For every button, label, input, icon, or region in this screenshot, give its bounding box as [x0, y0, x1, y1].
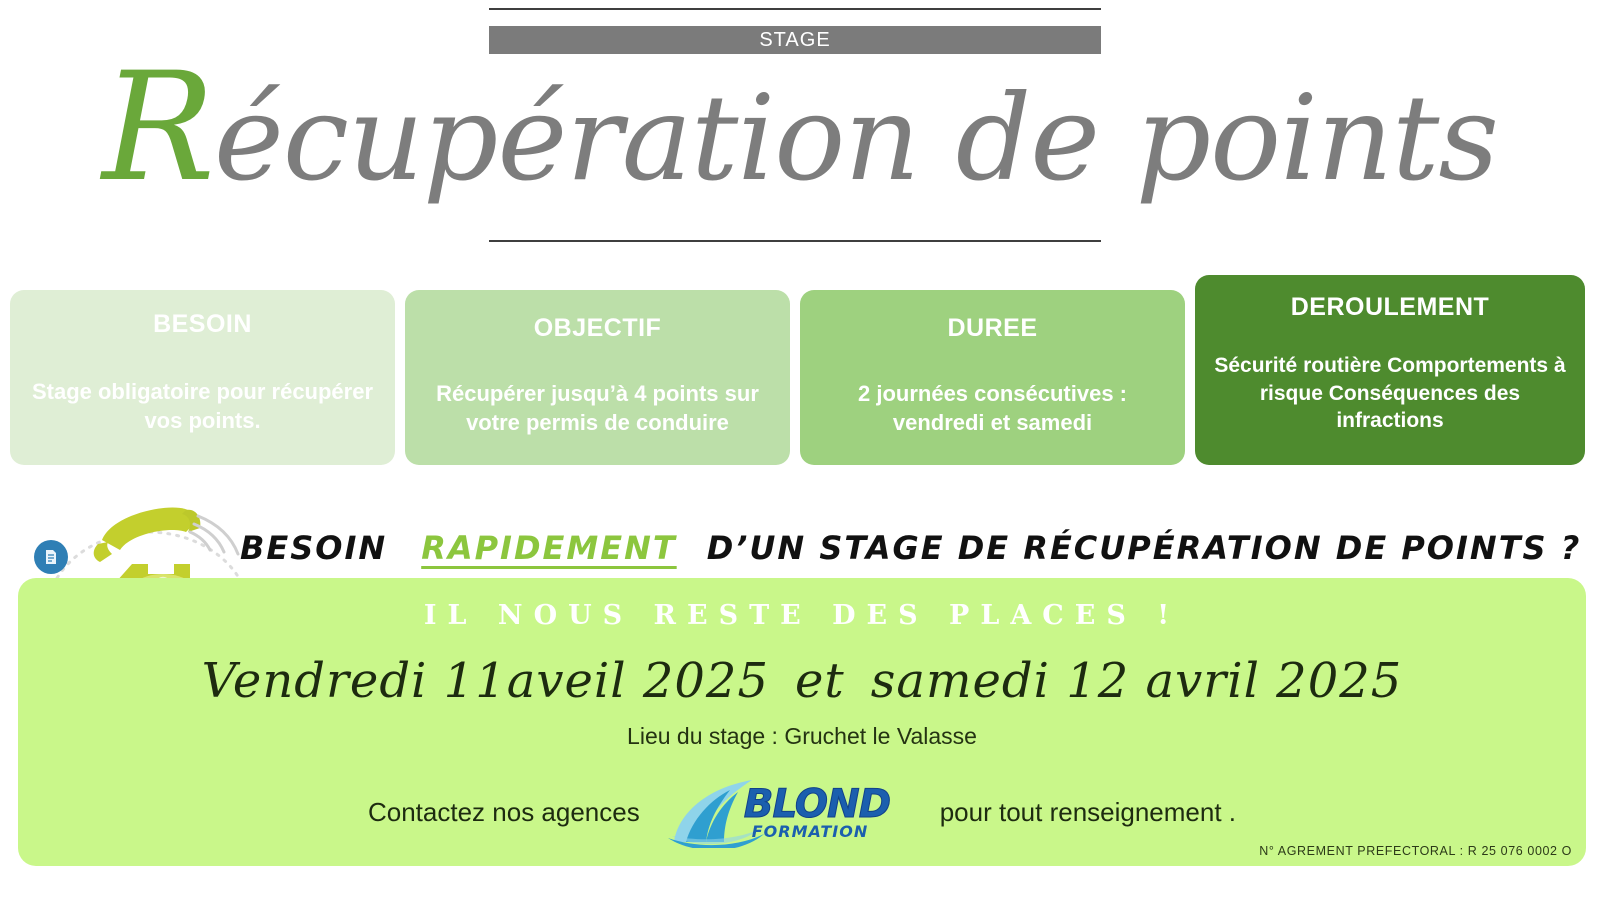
availability-panel: IL NOUS RESTE DES PLACES ! Vendredi 11av…	[18, 578, 1586, 866]
card-objectif-body: Récupérer jusqu’à 4 points sur votre per…	[419, 379, 776, 437]
session-location: Lieu du stage : Gruchet le Valasse	[18, 723, 1586, 750]
contact-suffix-text: pour tout renseignement .	[940, 797, 1236, 828]
stage-label: STAGE	[759, 29, 830, 52]
stage-header: STAGE	[0, 0, 1600, 64]
contact-row: Contactez nos agences BLOND FORMATION po…	[18, 776, 1586, 848]
info-cards-row: BESOIN Stage obligatoire pour récupérer …	[0, 275, 1600, 475]
question-headline: BESOIN RAPIDEMENT D’UN STAGE DE RÉCUPÉRA…	[240, 518, 1400, 578]
header-rule-top	[489, 8, 1101, 10]
stage-banner: STAGE	[489, 26, 1101, 54]
page-title: Récupération de points	[0, 58, 1600, 218]
session-date-1: Vendredi 11aveil 2025	[202, 653, 769, 709]
blond-formation-logo: BLOND FORMATION	[666, 776, 914, 848]
blond-logo-subtitle: FORMATION	[752, 822, 868, 841]
contact-prefix-text: Contactez nos agences	[368, 797, 640, 828]
card-deroulement-body: Sécurité routière Comportements à risque…	[1209, 352, 1571, 435]
session-date-2: samedi 12 avril 2025	[871, 653, 1403, 709]
card-besoin-title: BESOIN	[153, 310, 252, 339]
card-deroulement: DEROULEMENT Sécurité routière Comporteme…	[1195, 275, 1585, 465]
title-initial: R	[102, 41, 214, 215]
document-icon	[34, 540, 68, 574]
question-part-2: D’UN STAGE DE RÉCUPÉRATION DE POINTS ?	[707, 529, 1582, 567]
session-date-join: et	[795, 653, 845, 709]
card-duree-body: 2 journées consécutives : vendredi et sa…	[814, 379, 1171, 437]
card-objectif: OBJECTIF Récupérer jusqu’à 4 points sur …	[405, 290, 790, 465]
places-banner: IL NOUS RESTE DES PLACES !	[18, 600, 1586, 631]
card-duree-title: DUREE	[947, 314, 1037, 343]
card-deroulement-title: DEROULEMENT	[1291, 293, 1490, 322]
card-objectif-title: OBJECTIF	[534, 314, 662, 343]
card-besoin-body: Stage obligatoire pour récupérer vos poi…	[24, 377, 381, 435]
session-dates: Vendredi 11aveil 2025etsamedi 12 avril 2…	[18, 653, 1586, 709]
card-duree: DUREE 2 journées consécutives : vendredi…	[800, 290, 1185, 465]
blond-logo-wordmark: BLOND	[744, 782, 890, 827]
agrement-number: N° AGREMENT PREFECTORAL : R 25 076 0002 …	[1259, 844, 1572, 858]
title-rule-bottom	[489, 240, 1101, 242]
title-rest: écupération de points	[214, 69, 1498, 207]
question-highlight-rapidement: RAPIDEMENT	[421, 529, 677, 567]
title-block: Récupération de points	[0, 58, 1600, 243]
card-besoin: BESOIN Stage obligatoire pour récupérer …	[10, 290, 395, 465]
